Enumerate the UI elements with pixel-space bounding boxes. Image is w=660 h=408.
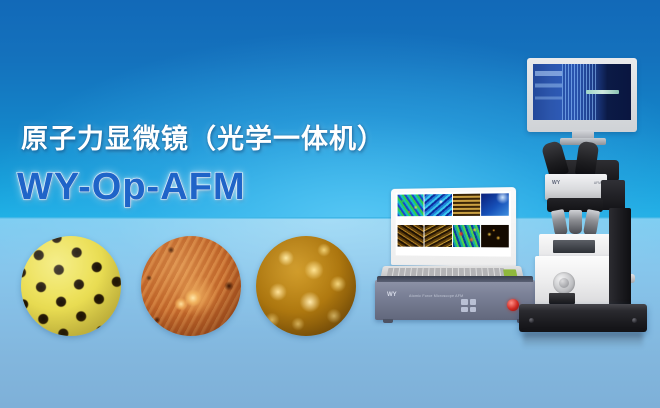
base-reflection	[523, 332, 643, 348]
monitor-cantilever-image	[586, 90, 619, 94]
scan-thumbnail-image	[425, 225, 452, 247]
laptop-screen	[396, 191, 511, 256]
scanner-sample-slot	[553, 240, 595, 253]
scan-thumbnail-image	[425, 194, 452, 217]
microscope-base-plate	[519, 304, 647, 332]
microscope-eyepieces	[539, 142, 625, 178]
scan-thumbnail	[425, 225, 452, 254]
afm-head-label: AFM	[594, 181, 601, 185]
monitor-scan-bars	[535, 71, 562, 112]
controller-port	[470, 299, 477, 305]
microscope-column	[609, 208, 631, 312]
eyepiece-left	[541, 140, 570, 178]
sample-3-shading	[256, 236, 356, 336]
sample-image-porous-membrane	[21, 236, 121, 336]
sample-image-cell-surface	[141, 236, 241, 336]
laptop-lid	[391, 187, 516, 267]
stage-sample-plate	[549, 293, 575, 304]
controller-port-grid	[461, 299, 476, 312]
afm-side-module	[601, 180, 625, 210]
objective-lens	[551, 209, 568, 237]
afm-scan-head: WY AFM	[545, 174, 607, 200]
scan-thumbnail-caption	[398, 246, 424, 253]
microscope-monitor	[527, 58, 637, 132]
scan-thumbnail-caption	[425, 216, 452, 223]
scan-thumbnail-image	[398, 194, 424, 216]
microscope-group: WY AFM	[505, 58, 660, 343]
scan-thumbnail	[425, 194, 452, 224]
scan-thumbnail	[452, 194, 479, 224]
scan-thumbnail	[452, 224, 479, 254]
page-title: 原子力显微镜（光学一体机）	[21, 124, 385, 154]
scan-thumbnail-image	[452, 224, 479, 247]
controller-port	[461, 299, 468, 305]
scan-thumbnail-image	[452, 194, 479, 217]
model-name: WY-Op-AFM	[17, 164, 246, 210]
sample-2-shading	[141, 236, 241, 336]
sample-image-nanoparticles	[256, 236, 356, 336]
controller-foot	[383, 319, 393, 323]
product-banner: 原子力显微镜（光学一体机） WY-Op-AFM	[0, 0, 660, 408]
controller-port	[461, 307, 468, 313]
scan-thumbnail-caption	[452, 216, 479, 223]
base-foot	[632, 318, 637, 323]
objective-lens	[569, 210, 582, 234]
afm-head-logo: WY	[552, 180, 560, 186]
base-foot	[529, 318, 534, 323]
scan-thumbnail-image	[398, 225, 424, 247]
stage-focus-knob[interactable]	[553, 272, 575, 294]
controller-logo: WY	[387, 292, 397, 298]
scan-thumbnail	[398, 225, 424, 254]
scan-thumbnail	[398, 194, 424, 223]
objective-lens	[583, 209, 600, 237]
controller-port	[470, 307, 477, 313]
sample-1-shading	[21, 236, 121, 336]
scan-thumbnail-caption	[425, 247, 452, 254]
controller-label: Atomic Force Microscope AFM	[409, 294, 463, 298]
xy-stage-housing	[535, 256, 617, 308]
monitor-screen	[533, 64, 631, 120]
scan-thumbnail-caption	[452, 247, 479, 254]
scan-thumbnail-caption	[398, 217, 424, 224]
